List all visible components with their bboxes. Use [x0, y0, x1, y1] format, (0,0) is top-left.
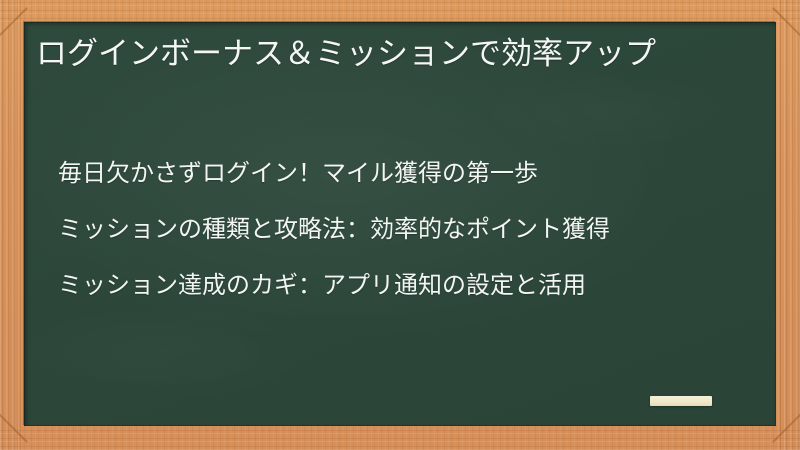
list-item: 毎日欠かさずログイン！マイル獲得の第一歩 — [58, 154, 758, 194]
frame-grain-right — [778, 0, 800, 450]
topic-list: 毎日欠かさずログイン！マイル獲得の第一歩 ミッションの種類と攻略法：効率的なポイ… — [58, 154, 758, 306]
chalk-stick-icon — [650, 396, 712, 406]
chalkboard-surface: ログインボーナス＆ミッションで効率アップ 毎日欠かさずログイン！マイル獲得の第一… — [24, 22, 776, 426]
frame-grain-top — [0, 0, 800, 22]
frame-mitre-top-right — [772, 7, 800, 37]
frame-mitre-bottom-right — [772, 413, 800, 443]
list-item: ミッションの種類と攻略法：効率的なポイント獲得 — [58, 210, 758, 250]
list-item: ミッション達成のカギ：アプリ通知の設定と活用 — [58, 266, 758, 306]
frame-grain-bottom — [0, 428, 800, 450]
page-title: ログインボーナス＆ミッションで効率アップ — [36, 32, 762, 76]
frame-grain-left — [0, 0, 22, 450]
chalkboard-graphic: ログインボーナス＆ミッションで効率アップ 毎日欠かさずログイン！マイル獲得の第一… — [0, 0, 800, 450]
